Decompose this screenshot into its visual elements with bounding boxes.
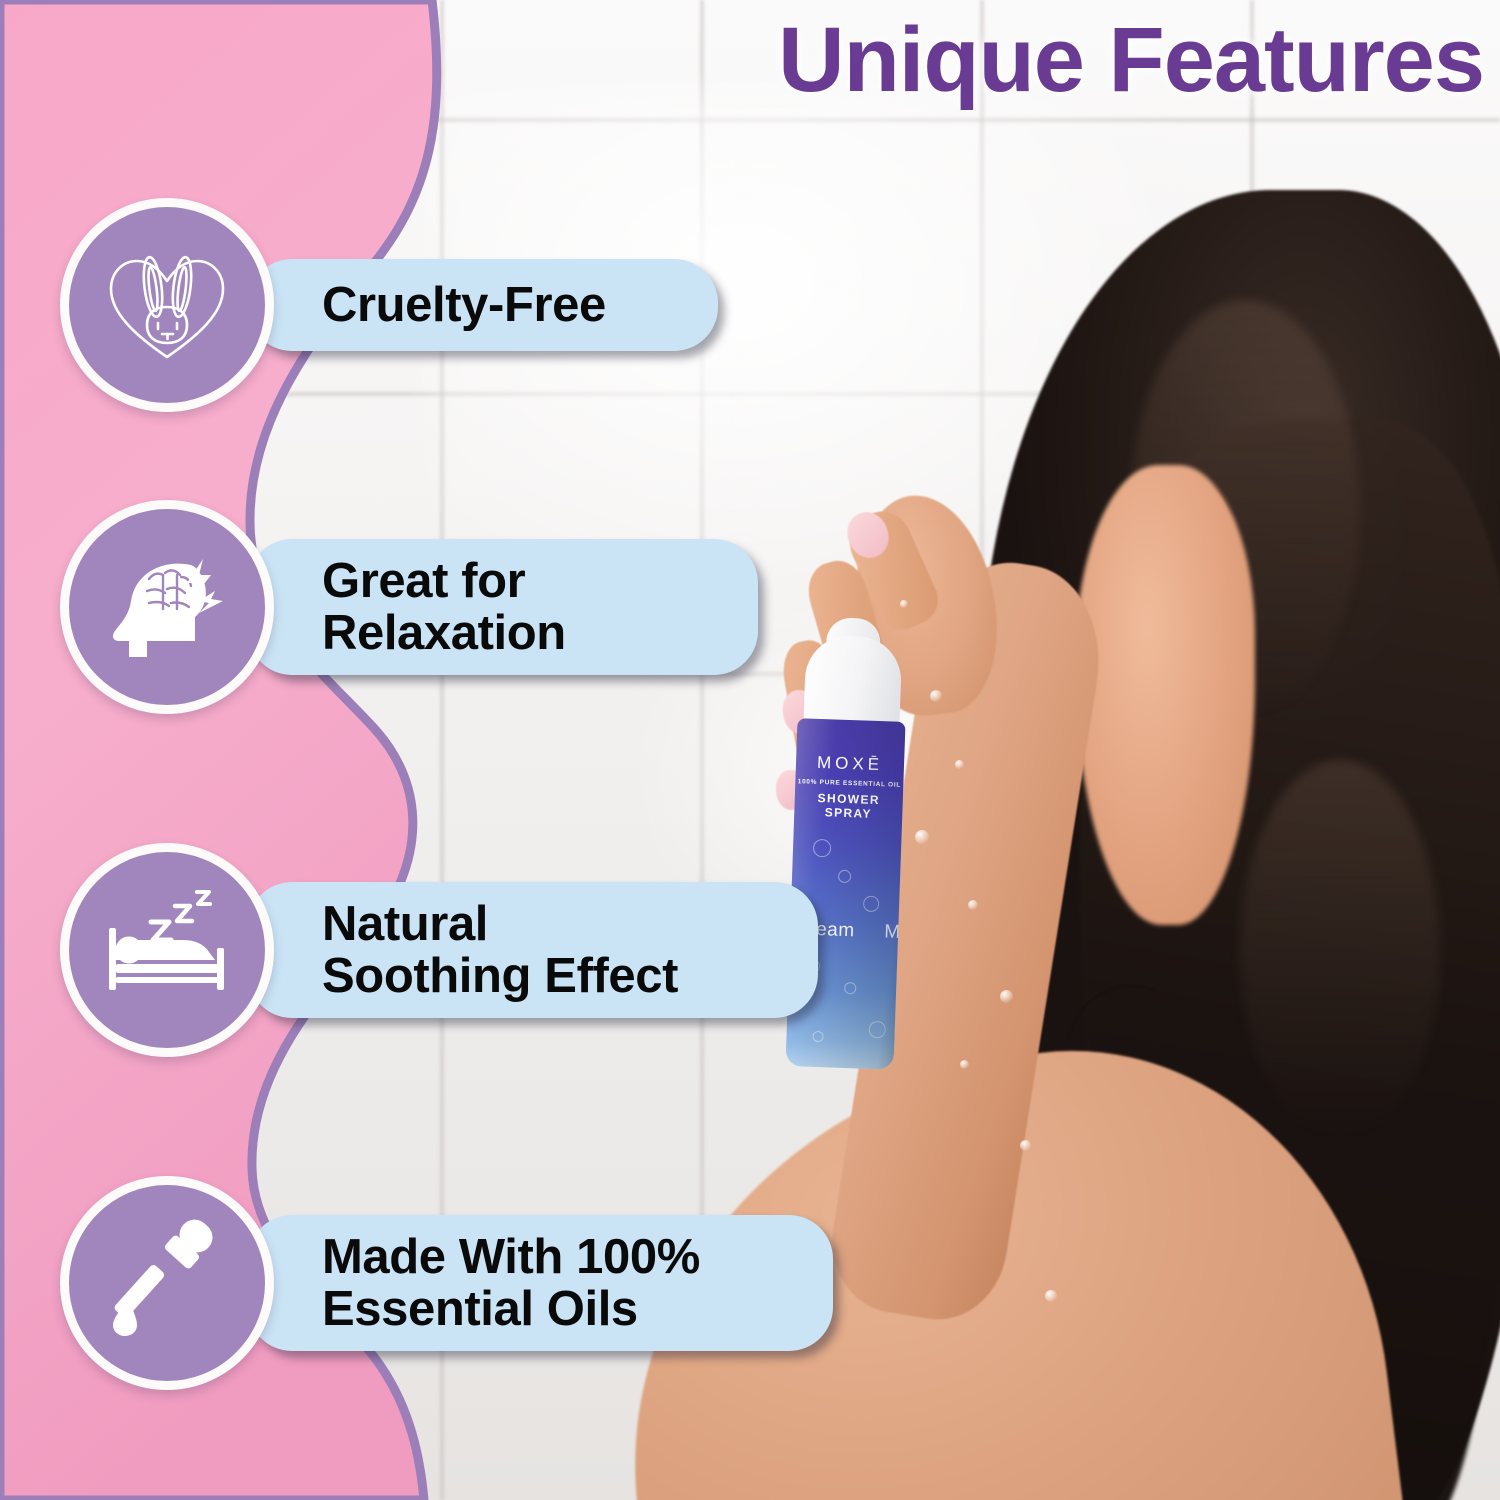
- feature-label: Made With 100% Essential Oils: [322, 1231, 700, 1336]
- feature-pill-relaxation[interactable]: Great for Relaxation: [248, 539, 758, 676]
- bubble-graphic: [838, 870, 851, 883]
- bubble-graphic: [844, 982, 856, 994]
- bottle-type-text: SHOWER SPRAY: [794, 790, 903, 822]
- bottle-brand-text: MOXĒ: [796, 752, 905, 776]
- water-droplet: [1000, 990, 1013, 1003]
- water-droplet: [1020, 1140, 1031, 1151]
- page-title: Unique Features: [778, 8, 1484, 113]
- bottle-subtitle-text: 100% PURE ESSENTIAL OIL: [795, 778, 903, 789]
- bubble-graphic: [863, 896, 880, 913]
- water-droplet: [930, 690, 942, 702]
- water-droplet: [900, 600, 908, 608]
- feature-row-cruelty-free[interactable]: Cruelty-Free: [60, 198, 718, 412]
- bubble-graphic: [868, 1021, 886, 1039]
- bunny-in-heart-icon: [60, 198, 274, 412]
- head-brain-lightning-icon: [60, 500, 274, 714]
- feature-pill-essential-oils[interactable]: Made With 100% Essential Oils: [248, 1215, 833, 1352]
- water-droplet: [955, 760, 964, 769]
- dropper-pipette-icon: [60, 1176, 274, 1390]
- feature-label: Great for Relaxation: [322, 555, 566, 660]
- feature-row-relaxation[interactable]: Great for Relaxation: [60, 500, 758, 714]
- feature-row-essential-oils[interactable]: Made With 100% Essential Oils: [60, 1176, 833, 1390]
- feature-row-soothing[interactable]: Natural Soothing Effect: [60, 843, 818, 1057]
- hair-highlight: [1240, 760, 1440, 1140]
- feature-pill-cruelty-free[interactable]: Cruelty-Free: [248, 259, 718, 351]
- water-droplet: [1045, 1290, 1057, 1302]
- feature-label: Natural Soothing Effect: [322, 898, 678, 1003]
- infographic-canvas: MOXĒ 100% PURE ESSENTIAL OIL SHOWER SPRA…: [0, 0, 1500, 1500]
- feature-pill-soothing[interactable]: Natural Soothing Effect: [248, 882, 818, 1019]
- water-droplet: [915, 830, 929, 844]
- water-droplet: [968, 900, 978, 910]
- bed-sleep-zzz-icon: [60, 843, 274, 1057]
- bottle-cap: [803, 634, 902, 729]
- water-droplet: [960, 1060, 969, 1069]
- feature-label: Cruelty-Free: [322, 279, 606, 331]
